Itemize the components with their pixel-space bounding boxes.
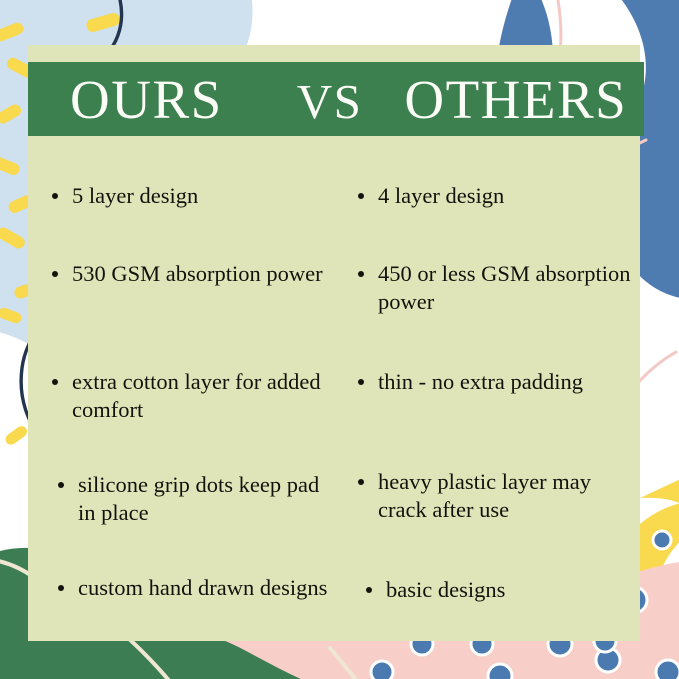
ours-column: 5 layer design530 GSM absorption powerex…: [28, 136, 334, 641]
ours-item: custom hand drawn designs: [56, 574, 327, 602]
others-item: basic designs: [364, 576, 505, 604]
others-item-label: 4 layer design: [378, 183, 504, 208]
header-others-label: OTHERS: [404, 72, 627, 127]
ours-item: silicone grip dots keep pad in place: [56, 471, 334, 527]
others-item: thin - no extra padding: [356, 368, 583, 396]
others-item-label: 450 or less GSM absorption power: [378, 261, 631, 314]
ours-item-label: silicone grip dots keep pad in place: [78, 472, 319, 525]
comparison-columns: 5 layer design530 GSM absorption powerex…: [28, 136, 640, 641]
ours-item-label: 5 layer design: [72, 183, 198, 208]
others-item-label: thin - no extra padding: [378, 369, 583, 394]
others-item: 4 layer design: [356, 182, 504, 210]
ours-item-label: extra cotton layer for added comfort: [72, 369, 321, 422]
header-banner: OURS VS OTHERS: [28, 62, 644, 136]
others-item: 450 or less GSM absorption power: [356, 260, 640, 316]
header-ours-label: OURS: [70, 72, 223, 127]
others-item: heavy plastic layer may crack after use: [356, 468, 640, 524]
ours-item-label: custom hand drawn designs: [78, 575, 327, 600]
infographic-canvas: OURS VS OTHERS 5 layer design530 GSM abs…: [0, 0, 679, 679]
ours-item: 5 layer design: [50, 182, 198, 210]
ours-item-label: 530 GSM absorption power: [72, 261, 323, 286]
ours-item: extra cotton layer for added comfort: [50, 368, 334, 424]
others-item-label: basic designs: [386, 577, 505, 602]
others-column: 4 layer design450 or less GSM absorption…: [334, 136, 640, 641]
ours-item: 530 GSM absorption power: [50, 260, 323, 288]
header-vs-label: VS: [297, 77, 363, 126]
others-item-label: heavy plastic layer may crack after use: [378, 469, 591, 522]
